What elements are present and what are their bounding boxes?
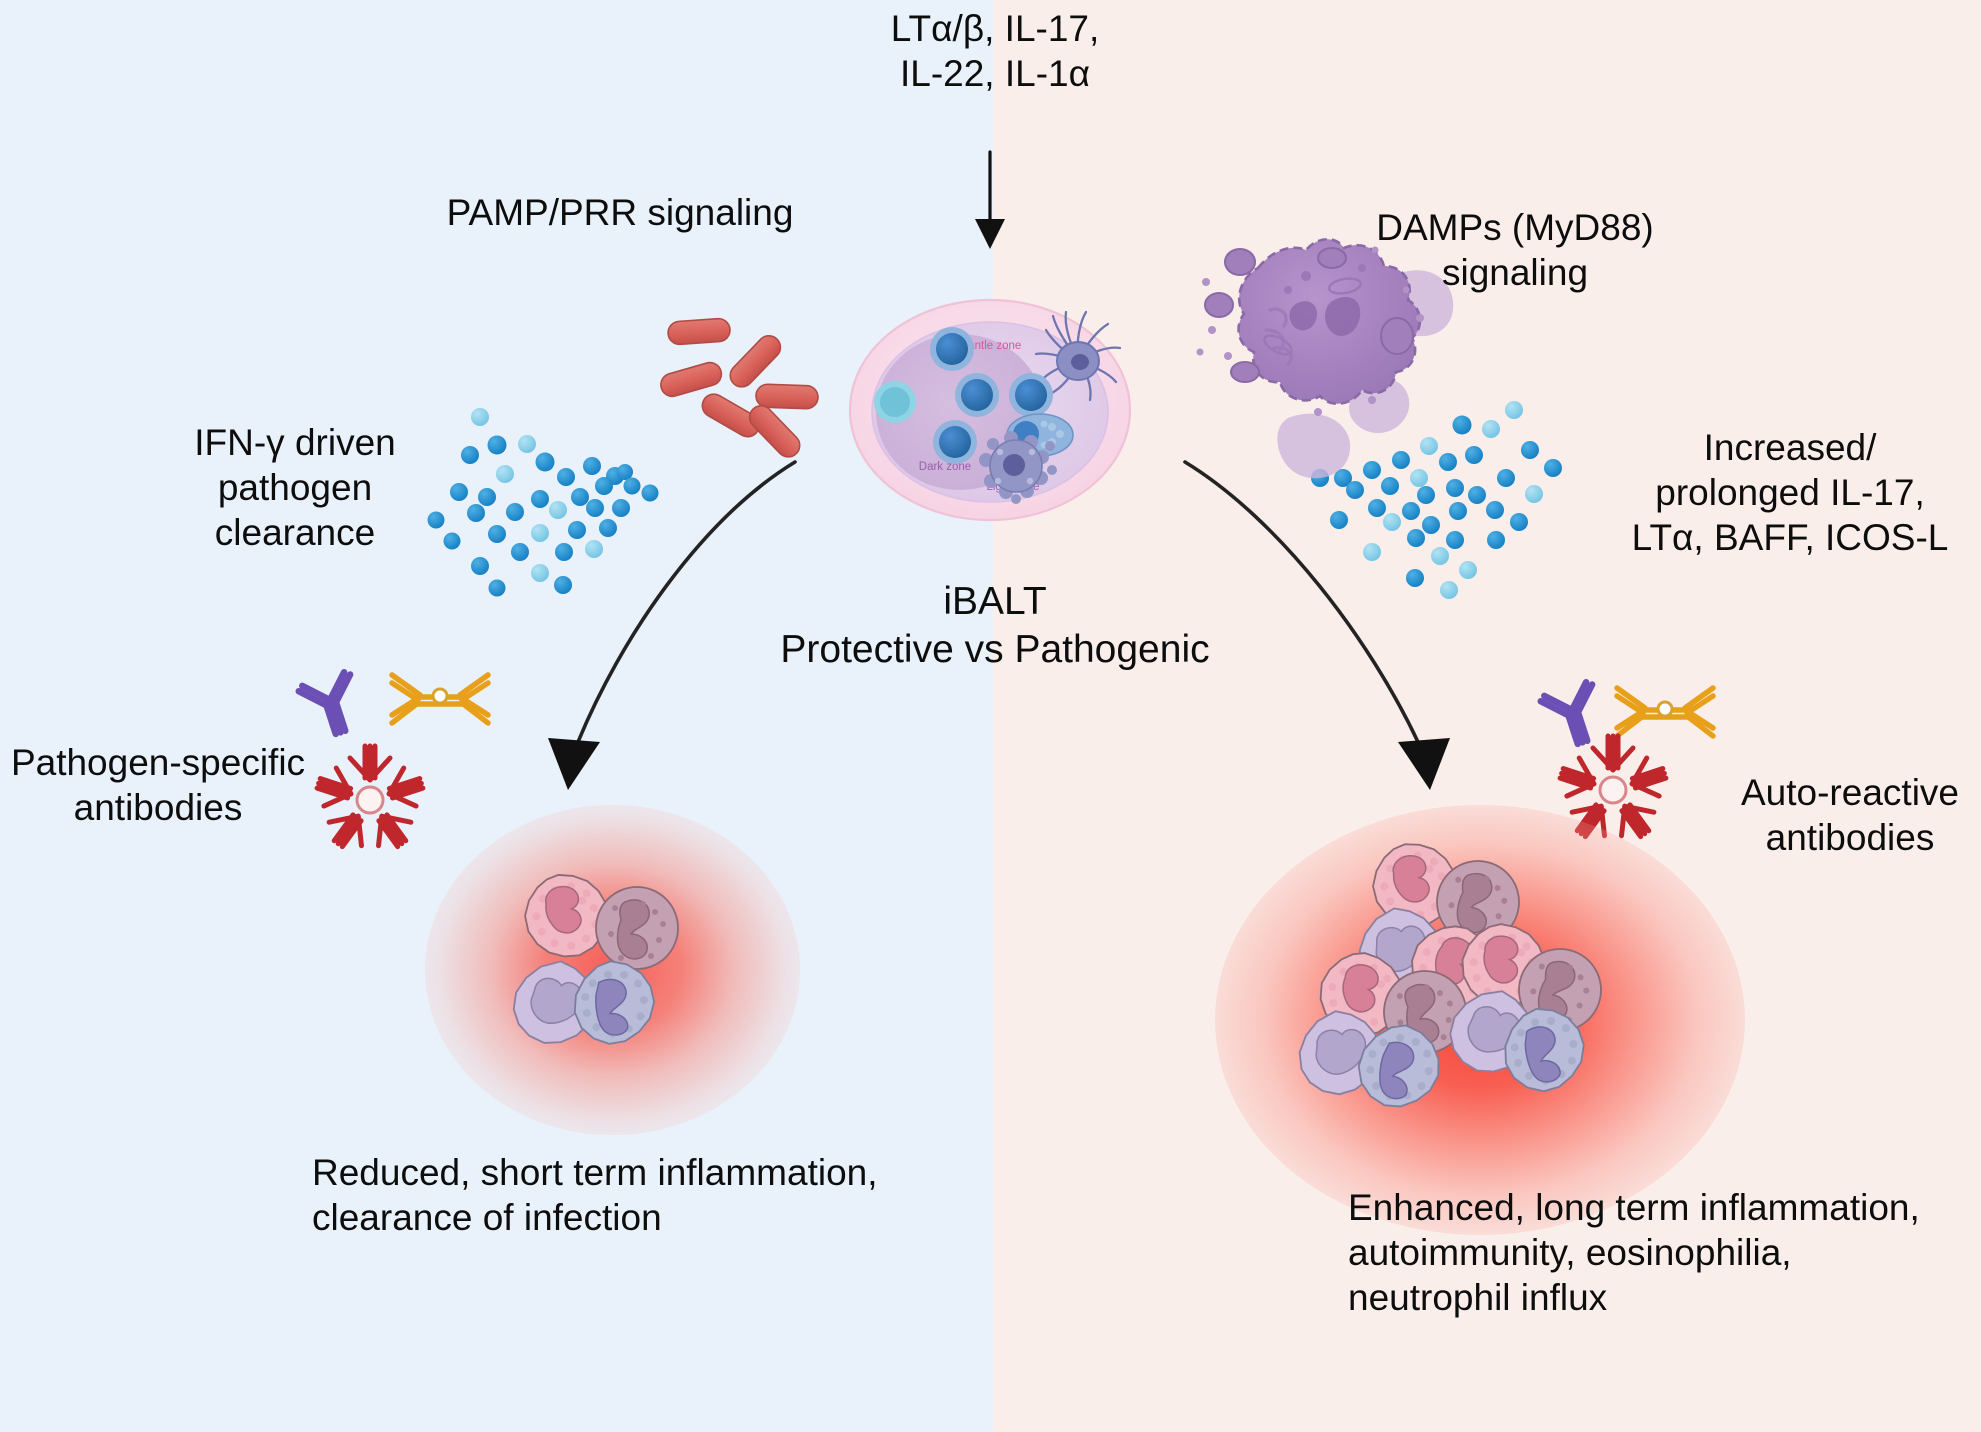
- label-damps-myd88-signaling: DAMPs (MyD88) signaling: [1290, 205, 1740, 295]
- label-auto-reactive-antibodies: Auto-reactive antibodies: [1690, 770, 1981, 860]
- label-outcome-pathogenic: Enhanced, long term inflammation, autoim…: [1348, 1185, 1968, 1320]
- label-outcome-protective: Reduced, short term inflammation, cleara…: [312, 1150, 932, 1240]
- label-ifn-gamma-clearance: IFN-γ driven pathogen clearance: [130, 420, 460, 555]
- figure-center-title: iBALT Protective vs Pathogenic: [720, 578, 1270, 673]
- label-pathogen-specific-antibodies: Pathogen-specific antibodies: [0, 740, 318, 830]
- label-increased-cytokines: Increased/ prolonged IL-17, LTα, BAFF, I…: [1610, 425, 1970, 560]
- label-top-cytokines: LTα/β, IL-17, IL-22, IL-1α: [745, 6, 1245, 96]
- figure-canvas: Mantle zone Dark zone Light zone: [0, 0, 1981, 1432]
- label-pamp-prr-signaling: PAMP/PRR signaling: [360, 190, 880, 235]
